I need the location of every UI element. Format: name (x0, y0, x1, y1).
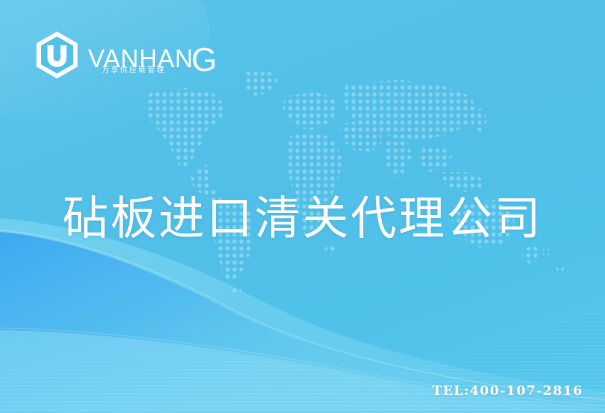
company-logo[interactable]: VANHANG 万享供应链管理 (34, 30, 220, 80)
contact-phone[interactable]: TEL:400-107-2816 (432, 384, 583, 399)
logo-subtitle: 万享供应链管理 (102, 66, 214, 73)
promo-banner: VANHANG 万享供应链管理 砧板进口清关代理公司 TEL:400-107-2… (0, 0, 605, 413)
page-title: 砧板进口清关代理公司 (0, 182, 605, 248)
hexagon-shield-u-icon (34, 30, 80, 80)
